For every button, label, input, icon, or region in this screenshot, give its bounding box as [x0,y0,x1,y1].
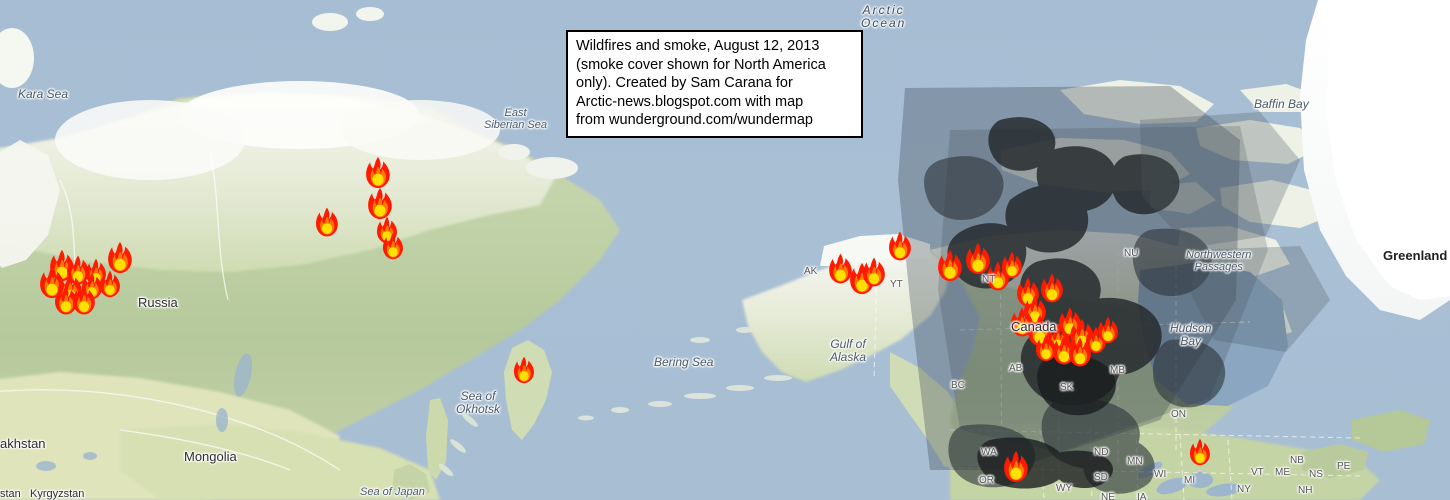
label-russia: Russia [138,296,178,310]
label-mn: MN [1127,457,1143,468]
caption-line-4: Arctic-news.blogspot.com with map [576,93,854,112]
label-nb: NB [1290,456,1304,467]
label-greenland: Greenland [1383,249,1447,263]
label-kara-sea: Kara Sea [18,88,68,101]
label-nh: NH [1298,486,1312,497]
label-on: ON [1171,410,1186,421]
label-ak: AK [804,267,817,278]
map-caption-box: Wildfires and smoke, August 12, 2013 (sm… [566,30,863,138]
label-nt: NT [982,275,995,286]
label-mb: MB [1110,366,1125,377]
label-hudson-bay: HudsonBay [1170,322,1211,347]
label-or: OR [979,476,994,487]
label-sd: SD [1094,473,1108,484]
label-gulf-of-alaska: Gulf ofAlaska [830,338,866,363]
label-pe: PE [1337,462,1350,473]
label-ny: NY [1237,485,1251,496]
label-ne: NE [1101,493,1115,500]
caption-line-1: Wildfires and smoke, August 12, 2013 [576,37,854,56]
label-ia: IA [1137,493,1146,500]
label-kazakhstan: akhstan [0,437,46,451]
label-sea-of-japan: Sea of Japan [360,487,425,499]
label-wi: WI [1154,470,1166,481]
label-ab: AB [1009,364,1022,375]
label-arctic-ocean: ArcticOcean [861,4,906,29]
label-mi: MI [1184,476,1195,487]
label-northwestern-passages: NorthwesternPassages [1186,250,1251,273]
label-bc: BC [951,381,965,392]
label-baffin-bay: Baffin Bay [1254,98,1309,111]
label-kyrgyzstan: Kyrgyzstan [30,489,84,500]
label-wy: WY [1056,484,1072,495]
label-stan-clip: stan [0,489,21,500]
caption-line-5: from wunderground.com/wundermap [576,111,854,130]
label-me: ME [1275,468,1290,479]
caption-line-2: (smoke cover shown for North America [576,56,854,75]
label-mongolia: Mongolia [184,450,237,464]
label-nd: ND [1094,448,1108,459]
label-sk: SK [1060,383,1073,394]
label-sea-of-okhotsk: Sea ofOkhotsk [456,390,500,415]
label-east-siberian-sea: EastSiberian Sea [484,108,547,131]
caption-line-3: only). Created by Sam Carana for [576,74,854,93]
label-vt: VT [1251,468,1264,479]
label-yt: YT [890,280,903,291]
label-ns: NS [1309,470,1323,481]
label-wa: WA [981,448,997,459]
label-nu: NU [1124,249,1138,260]
wildfire-smoke-map: Kara SeaEastSiberian SeaArcticOceanBerin… [0,0,1450,500]
label-canada: Canada [1011,320,1057,334]
label-bering-sea: Bering Sea [654,356,713,369]
